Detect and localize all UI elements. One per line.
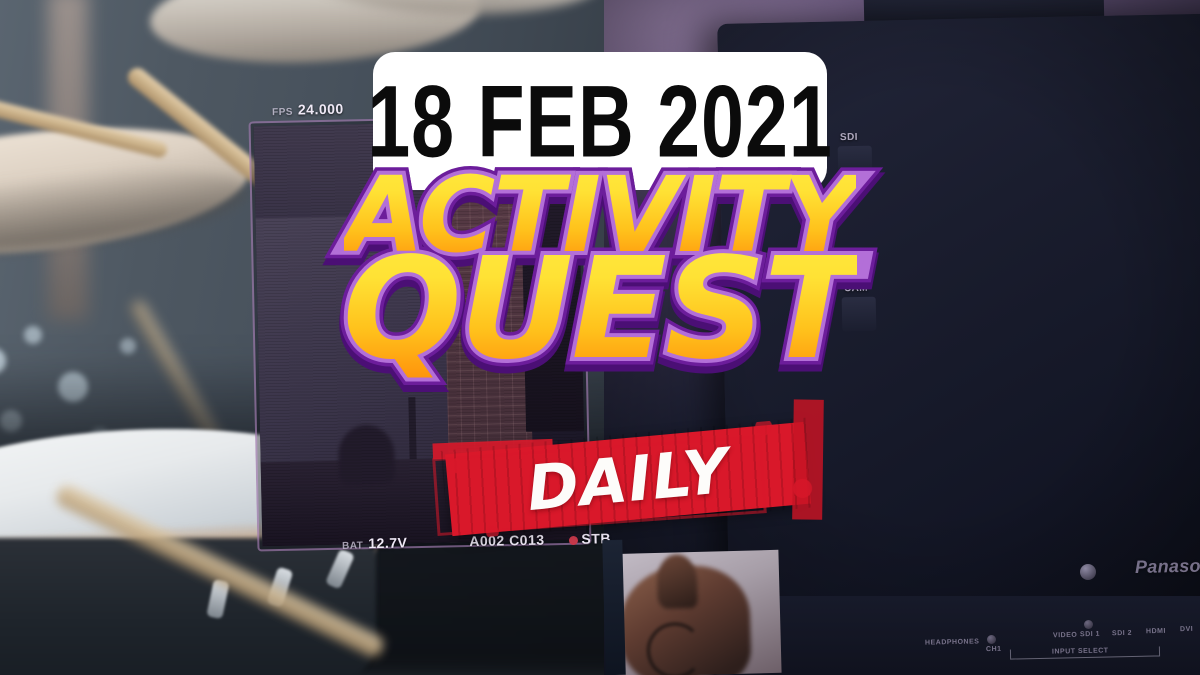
dog-ear — [656, 554, 697, 609]
headphones-label: HEADPHONES — [925, 638, 980, 646]
activity-quest-daily-banner: FPS 24.000 SHUTTER 172.8 BAT 12.7V A002 … — [0, 0, 1200, 675]
reel-clip-id: A002 C013 — [469, 532, 545, 550]
sdi2-label: SDI 2 — [1112, 630, 1132, 637]
dvi-label: DVI — [1180, 626, 1193, 633]
battery-value: 12.7V — [368, 534, 407, 551]
battery-label: BAT — [342, 540, 364, 551]
cam-input-button[interactable] — [842, 297, 877, 332]
monitor-control-knob[interactable] — [1080, 564, 1096, 580]
fps-label: FPS — [272, 107, 293, 118]
sdi1-bnc-jack[interactable] — [1084, 620, 1093, 629]
screen-lamp-head — [397, 341, 420, 375]
date-badge-text: 18 FEB 2021 — [367, 70, 833, 172]
input-select-label: INPUT SELECT — [1052, 647, 1109, 655]
screen-dark-doorway — [520, 153, 584, 431]
sdi-input-label: SDI — [840, 132, 858, 143]
screen-lamp-post — [408, 397, 416, 459]
viewfinder-frame-edge — [602, 540, 626, 675]
record-status-dot — [568, 536, 577, 545]
fps-value: 24.000 — [298, 101, 344, 118]
sdi-input-button[interactable] — [838, 146, 873, 181]
cam-input-label: CAM — [844, 283, 868, 294]
panasonic-brand-logo: Panasonic — [1135, 555, 1200, 578]
center-marker-crosshair — [510, 322, 537, 349]
headphone-jack[interactable] — [987, 635, 996, 644]
viewfinder-dog-preview — [608, 550, 781, 675]
video-label: VIDEO — [1053, 632, 1077, 640]
hdmi-label: HDMI — [1146, 628, 1166, 635]
ch1-label: CH1 — [986, 646, 1002, 653]
sdi1-label: SDI 1 — [1080, 631, 1100, 638]
date-badge: 18 FEB 2021 — [373, 52, 827, 190]
screen-bush — [338, 425, 395, 486]
